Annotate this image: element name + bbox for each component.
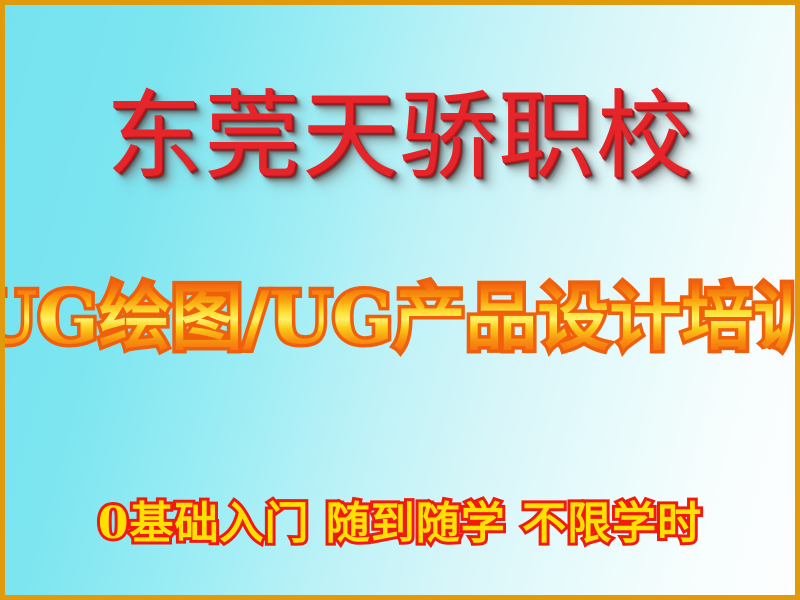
promotional-poster: 东莞天骄职校 UG绘图/UG产品设计培训 UG绘图/UG产品设计培训 0基础入门… bbox=[0, 0, 800, 600]
tagline-text: 0基础入门 随到随学 不限学时 bbox=[98, 500, 702, 548]
school-name-line: 东莞天骄职校 bbox=[5, 77, 795, 195]
tagline-line: 0基础入门 随到随学 不限学时 0基础入门 随到随学 不限学时 bbox=[5, 493, 795, 555]
school-name-title: 东莞天骄职校 bbox=[106, 86, 694, 187]
tagline-stack: 0基础入门 随到随学 不限学时 0基础入门 随到随学 不限学时 bbox=[98, 500, 702, 548]
course-name-line: UG绘图/UG产品设计培训 UG绘图/UG产品设计培训 bbox=[5, 263, 795, 373]
course-name-title: UG绘图/UG产品设计培训 bbox=[0, 278, 800, 357]
course-name-stack: UG绘图/UG产品设计培训 UG绘图/UG产品设计培训 bbox=[0, 278, 800, 357]
